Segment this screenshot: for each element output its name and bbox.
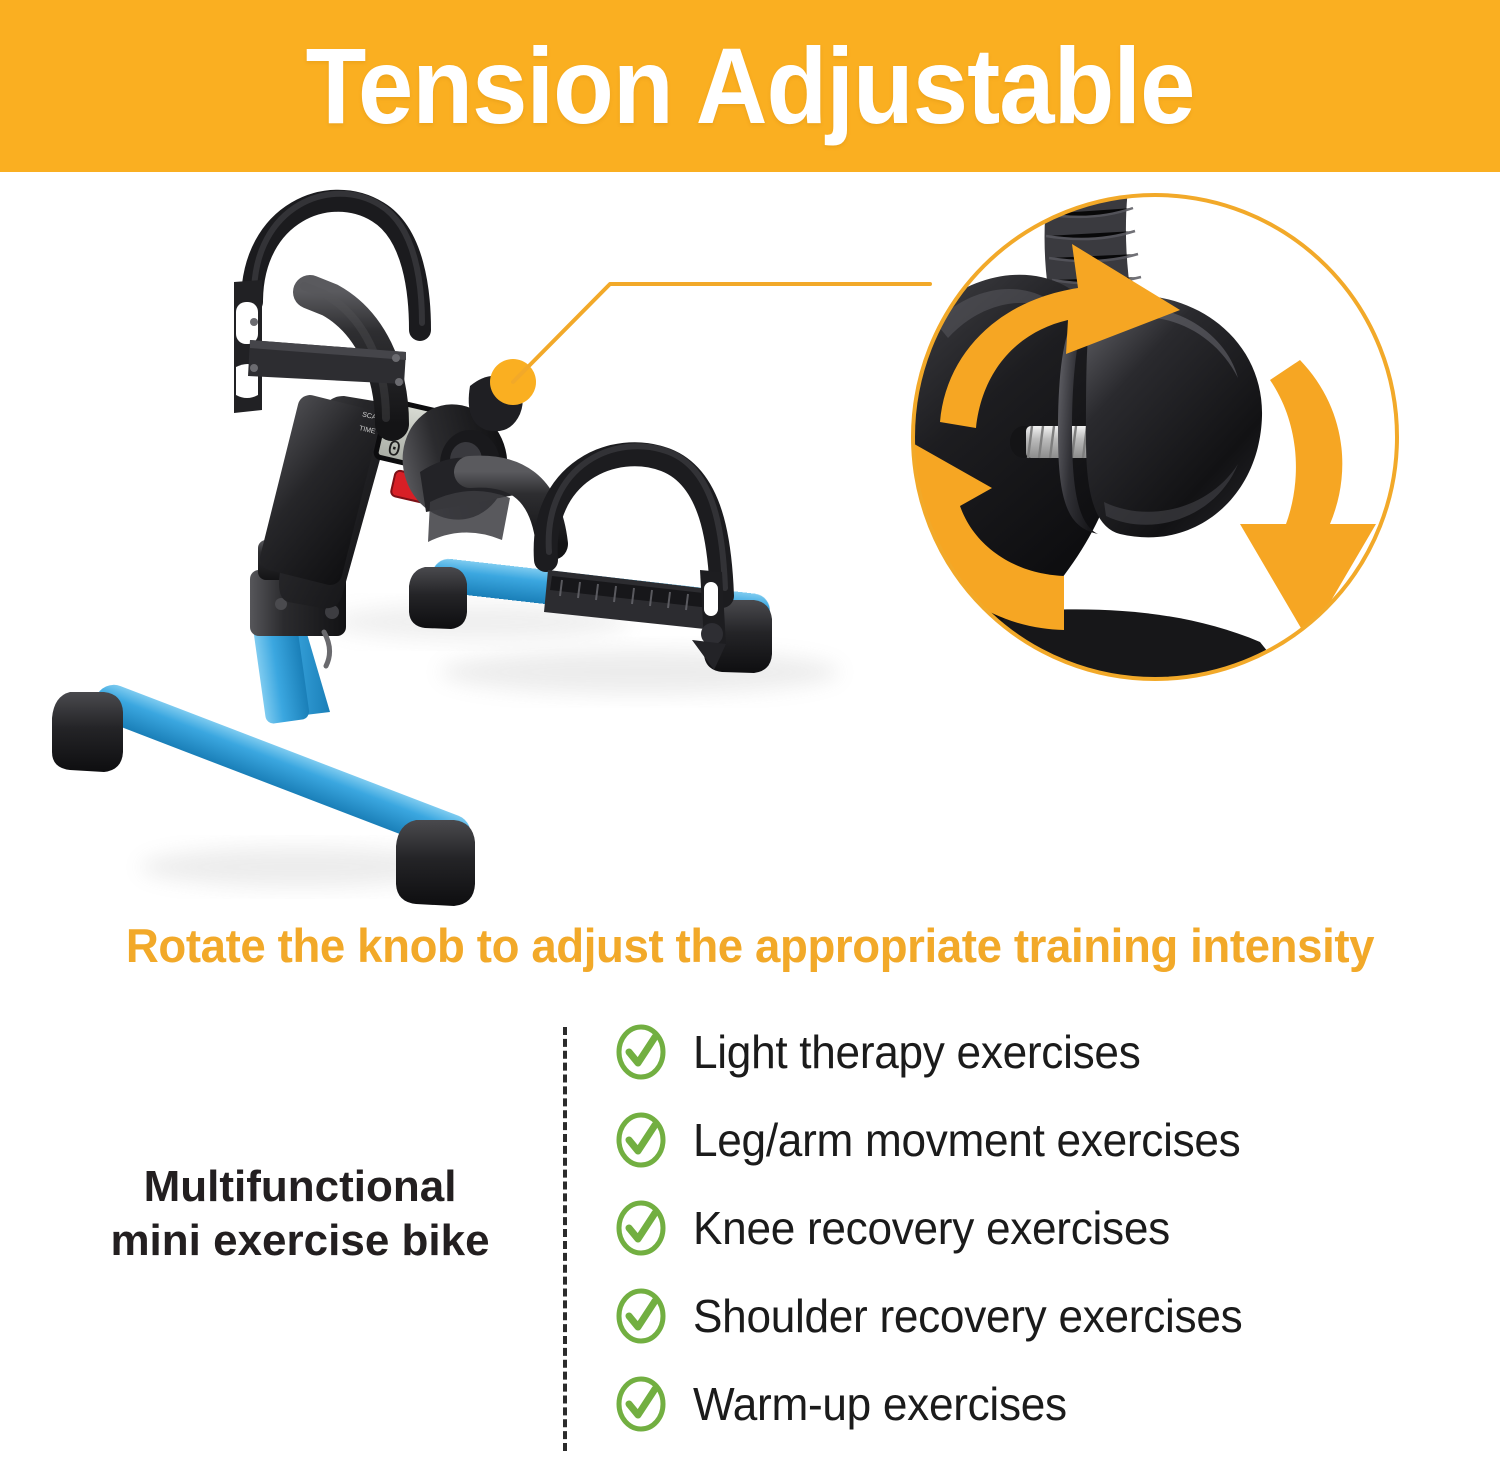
check-circle-icon — [615, 1023, 667, 1081]
feature-label: Light therapy exercises — [693, 1029, 1140, 1075]
feature-label: Leg/arm movment exercises — [693, 1117, 1240, 1163]
check-circle-icon — [615, 1375, 667, 1433]
list-item: Leg/arm movment exercises — [615, 1096, 1485, 1184]
product-name: Multifunctional mini exercise bike — [60, 1160, 540, 1267]
check-circle-icon — [615, 1199, 667, 1257]
list-item: Shoulder recovery exercises — [615, 1272, 1485, 1360]
feature-label: Knee recovery exercises — [693, 1205, 1170, 1251]
tension-knob-callout — [872, 172, 1397, 692]
feature-label: Shoulder recovery exercises — [693, 1293, 1242, 1339]
callout-screw — [1010, 426, 1096, 458]
check-circle-icon — [615, 1111, 667, 1169]
product-name-line2: mini exercise bike — [60, 1214, 540, 1268]
section-divider — [563, 1027, 567, 1451]
feature-section: Multifunctional mini exercise bike Light… — [0, 1000, 1500, 1457]
product-infographic: Tension Adjustable — [0, 0, 1500, 1457]
product-photo-stage: 0 0.00 SCAN TIME CAL DIST CNT — [0, 172, 1500, 912]
list-item: Light therapy exercises — [615, 1008, 1485, 1096]
list-item: Warm-up exercises — [615, 1360, 1485, 1448]
callout-caption: Rotate the knob to adjust the appropriat… — [23, 918, 1478, 973]
feature-label: Warm-up exercises — [693, 1381, 1067, 1427]
bottom-pedal — [544, 446, 726, 670]
list-item: Knee recovery exercises — [615, 1184, 1485, 1272]
product-name-line1: Multifunctional — [60, 1160, 540, 1214]
check-circle-icon — [615, 1287, 667, 1345]
banner-title: Tension Adjustable — [306, 32, 1195, 140]
callout-leader-line — [513, 284, 930, 382]
feature-list: Light therapy exercises Leg/arm movment … — [615, 1008, 1485, 1448]
product-illustration: 0 0.00 SCAN TIME CAL DIST CNT — [0, 172, 1500, 912]
header-banner: Tension Adjustable — [0, 0, 1500, 172]
